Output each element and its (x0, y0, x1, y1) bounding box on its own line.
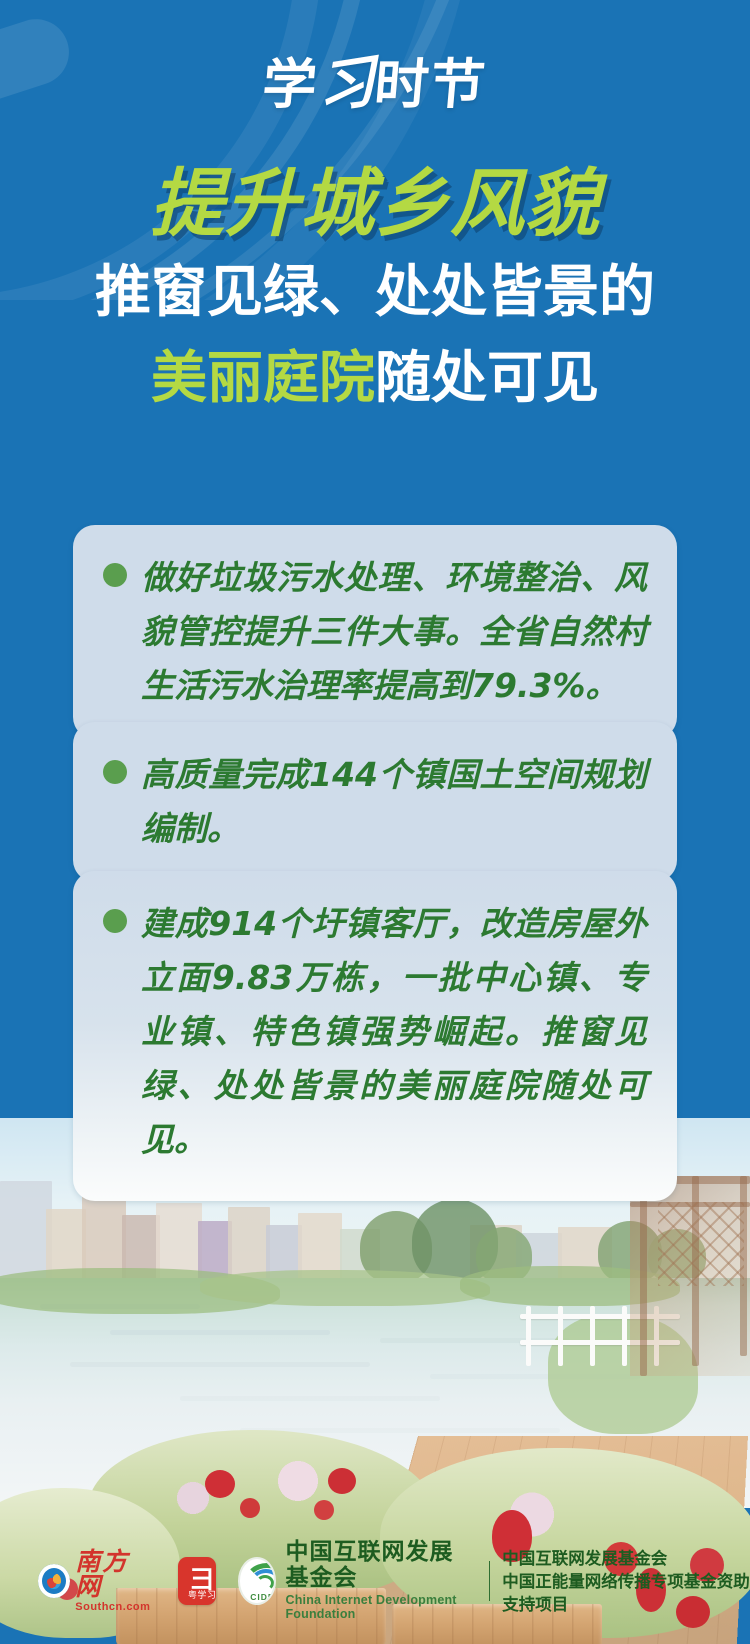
poster-root: 学习时节 提升城乡风貌 推窗见绿、处处皆景的 美丽庭院随处可见 (0, 0, 750, 1644)
content-card: 做好垃圾污水处理、环境整治、风貌管控提升三件大事。全省自然村生活污水治理率提高到… (73, 525, 677, 739)
footer-divider (489, 1561, 491, 1601)
content-card: 高质量完成144个镇国土空间规划编制。 (73, 722, 677, 882)
red-flower (240, 1498, 260, 1518)
yuexuexi-label: 粤学习 (178, 1588, 226, 1601)
headline-sub: 推窗见绿、处处皆景的 (0, 250, 750, 336)
southcn-logo[interactable]: 南方网 Southcn.com (38, 1549, 152, 1613)
water-reflection (180, 1396, 440, 1401)
headline-block: 提升城乡风貌 推窗见绿、处处皆景的 美丽庭院随处可见 (0, 158, 750, 422)
content-card: 建成914个圩镇客厅，改造房屋外立面9.83万栋，一批中心镇、专业镇、特色镇强势… (73, 871, 677, 1201)
lattice-screen (658, 1202, 744, 1286)
brand-title-part1: 学 (260, 53, 322, 116)
fund-line-2: 中国正能量网络传播专项基金资助支持项目 (502, 1570, 750, 1616)
headline-sub2-green: 美丽庭院 (151, 346, 375, 411)
headline-sub2-white: 随处可见 (375, 346, 599, 411)
brand-title: 学习时节 (260, 40, 491, 119)
southcn-mark-icon (38, 1564, 70, 1598)
card-text: 建成914个圩镇客厅，改造房屋外立面9.83万栋，一批中心镇、专业镇、特色镇强势… (141, 897, 647, 1167)
card-text: 做好垃圾污水处理、环境整治、风貌管控提升三件大事。全省自然村生活污水治理率提高到… (141, 551, 647, 713)
footer-logo-bar: 南方网 Southcn.com 彐 粤学习 CIDF 中国互联网发展基金会 Ch… (0, 1548, 750, 1614)
cidf-name-en: China Internet Development Foundation (285, 1594, 476, 1622)
brand-header: 学习时节 (0, 40, 750, 119)
fund-line-1: 中国互联网发展基金会 (502, 1547, 750, 1570)
bullet-icon (103, 760, 127, 784)
southcn-name-en: Southcn.com (75, 1602, 152, 1613)
red-flower (314, 1500, 334, 1520)
red-flower (205, 1470, 235, 1498)
brand-title-accent: 习 (314, 34, 379, 126)
headline-sub2: 美丽庭院随处可见 (0, 336, 750, 422)
headline-main: 提升城乡风貌 (0, 158, 750, 250)
cidf-logo[interactable]: CIDF 中国互联网发展基金会 China Internet Developme… (238, 1540, 477, 1621)
cidf-name-cn: 中国互联网发展基金会 (285, 1540, 476, 1591)
brand-title-part2: 时节 (372, 53, 490, 116)
riverbank-planting (200, 1270, 490, 1306)
southcn-name-cn: 南方网 (75, 1549, 152, 1599)
card-text: 高质量完成144个镇国土空间规划编制。 (141, 748, 647, 856)
water-reflection (70, 1362, 370, 1367)
red-flower (328, 1468, 356, 1494)
fund-sponsor-text: 中国互联网发展基金会 中国正能量网络传播专项基金资助支持项目 (502, 1547, 750, 1616)
building (0, 1181, 52, 1283)
cidf-abbr: CIDF (240, 1592, 276, 1602)
water-reflection (110, 1330, 330, 1335)
bullet-icon (103, 563, 127, 587)
yuexuexi-app-icon[interactable]: 彐 粤学习 (178, 1557, 216, 1605)
cidf-mark-icon: CIDF (238, 1557, 276, 1605)
bullet-icon (103, 909, 127, 933)
